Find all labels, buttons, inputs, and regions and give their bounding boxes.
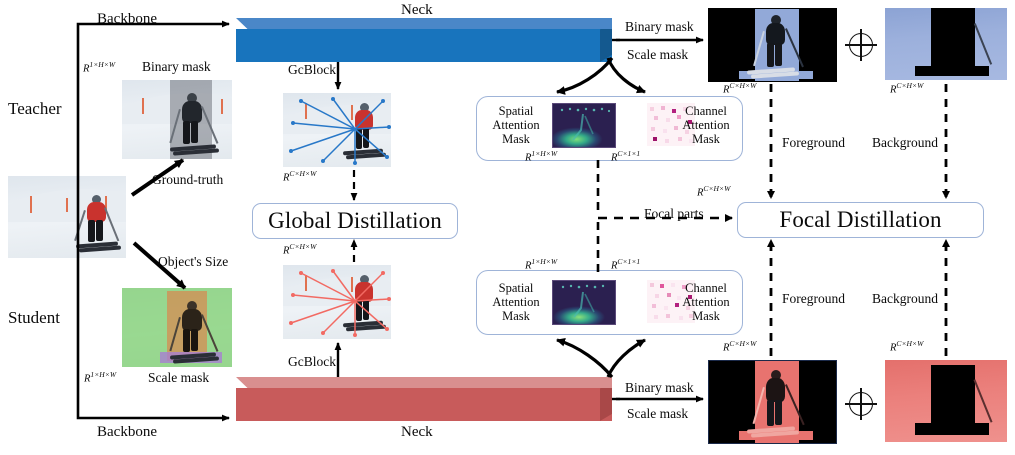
spatial-line-2: Attention [482, 295, 550, 309]
gcblock-feature-teacher [283, 93, 391, 167]
label-binary-mask-top-right: Binary mask [625, 20, 694, 34]
dim-bg-student: RC×H×W [890, 340, 923, 354]
skier-figure [753, 14, 807, 80]
spatial-line-1: Spatial [482, 104, 550, 118]
teacher-spatial-attention-heatmap [552, 103, 616, 148]
gcblock-feature-student [283, 265, 391, 339]
label-foreground-bottom: Foreground [782, 292, 845, 306]
teacher-spatial-dim: R1×H×W [525, 150, 557, 164]
channel-line-2: Attention [672, 118, 740, 132]
student-spatial-dim: R1×H×W [525, 258, 557, 272]
channel-line-1: Channel [672, 104, 740, 118]
label-neck-bottom: Neck [401, 425, 433, 440]
student-neck-block [236, 377, 612, 421]
teacher-channel-attention-label: Channel Attention Mask [672, 104, 740, 146]
dim-global-out: RC×H×W [283, 243, 316, 257]
label-scale-mask-bottom-right: Scale mask [627, 407, 688, 421]
diagram-canvas: Global Distillation Focal Distillation S… [0, 0, 1015, 455]
label-ground-truth: Ground-truth [152, 173, 223, 187]
student-background-image [885, 360, 1007, 442]
spatial-line-3: Mask [482, 309, 550, 323]
student-spatial-attention-label: Spatial Attention Mask [482, 281, 550, 323]
course-pole [30, 196, 32, 213]
label-background-bottom: Background [872, 292, 938, 306]
dim-bg-teacher: RC×H×W [890, 82, 923, 96]
label-backbone-top: Backbone [97, 12, 157, 27]
dim-sup: C×H×W [729, 81, 756, 90]
gc-context-lines-teacher [283, 93, 391, 167]
global-distillation-label: Global Distillation [268, 208, 442, 234]
label-binary-mask-bottom-right: Binary mask [625, 381, 694, 395]
dim-scale-mask-student: R1×H×W [84, 371, 116, 385]
focal-distillation-box[interactable]: Focal Distillation [737, 202, 984, 238]
student-spatial-attention-heatmap [552, 280, 616, 325]
dim-sup: C×1×1 [617, 257, 640, 266]
student-channel-attention-label: Channel Attention Mask [672, 281, 740, 323]
dim-sup: 1×H×W [90, 370, 116, 379]
teacher-channel-dim: RC×1×1 [611, 150, 640, 164]
course-pole [66, 198, 68, 212]
student-channel-dim: RC×1×1 [611, 258, 640, 272]
scale-mask-image-student [122, 288, 232, 367]
teacher-neck-block [236, 18, 612, 62]
dim-sup: 1×H×W [531, 149, 557, 158]
input-image-photo [8, 176, 126, 258]
dim-sup: C×H×W [896, 339, 923, 348]
dim-sup: C×H×W [289, 242, 316, 251]
student-foreground-image [708, 360, 837, 444]
label-objects-size: Object's Size [158, 255, 228, 269]
label-gcblock-top: GcBlock [288, 63, 336, 77]
skier-figure [70, 194, 126, 256]
label-foreground-top: Foreground [782, 136, 845, 150]
label-scale-mask-top-right: Scale mask [627, 48, 688, 62]
label-binary-mask-teacher: Binary mask [142, 60, 211, 74]
channel-line-3: Mask [672, 132, 740, 146]
channel-line-2: Attention [672, 295, 740, 309]
dim-sup: C×1×1 [617, 149, 640, 158]
dim-sup: C×H×W [896, 81, 923, 90]
dim-sup: C×H×W [289, 169, 316, 178]
spatial-line-1: Spatial [482, 281, 550, 295]
label-backbone-bottom: Backbone [97, 425, 157, 440]
dim-fg-student: RC×H×W [723, 340, 756, 354]
dim-gc-teacher: RC×H×W [283, 170, 316, 184]
dim-sup: C×H×W [703, 184, 730, 193]
dim-binary-mask-teacher: R1×H×W [83, 61, 115, 75]
skier-figure [168, 300, 224, 366]
binary-mask-image-teacher [122, 80, 232, 159]
neck-front-face [236, 388, 612, 421]
channel-line-1: Channel [672, 281, 740, 295]
dim-sup: C×H×W [729, 339, 756, 348]
global-distillation-box[interactable]: Global Distillation [252, 203, 458, 239]
label-focal-parts: Focal parts [644, 207, 704, 221]
sum-operator-student-icon [849, 392, 873, 416]
teacher-spatial-attention-label: Spatial Attention Mask [482, 104, 550, 146]
label-neck-top: Neck [401, 3, 433, 18]
neck-top-face [236, 18, 612, 29]
channel-line-3: Mask [672, 309, 740, 323]
focal-distillation-label: Focal Distillation [779, 207, 941, 233]
dim-focal-in: RC×H×W [697, 185, 730, 199]
gc-context-lines-student [283, 265, 391, 339]
spatial-line-3: Mask [482, 132, 550, 146]
label-gcblock-bottom: GcBlock [288, 355, 336, 369]
teacher-background-image [885, 8, 1007, 80]
dim-sup: 1×H×W [531, 257, 557, 266]
skier-figure [753, 369, 807, 441]
arrow-scale-mask-curve-student-2 [608, 340, 645, 377]
spatial-line-2: Attention [482, 118, 550, 132]
label-background-top: Background [872, 136, 938, 150]
sum-operator-teacher-icon [849, 33, 873, 57]
neck-front-face [236, 29, 612, 62]
dim-fg-teacher: RC×H×W [723, 82, 756, 96]
arrow-scale-mask-curve-student [557, 340, 612, 377]
neck-top-face [236, 377, 612, 388]
teacher-foreground-image [708, 8, 837, 82]
label-scale-mask-student: Scale mask [148, 371, 209, 385]
skier-figure [168, 92, 224, 158]
arrow-scale-mask-curve-teacher [557, 58, 612, 92]
label-teacher: Teacher [8, 100, 62, 117]
label-student: Student [8, 309, 60, 326]
arrow-scale-mask-curve-teacher-2 [608, 58, 645, 92]
dim-sup: 1×H×W [89, 60, 115, 69]
